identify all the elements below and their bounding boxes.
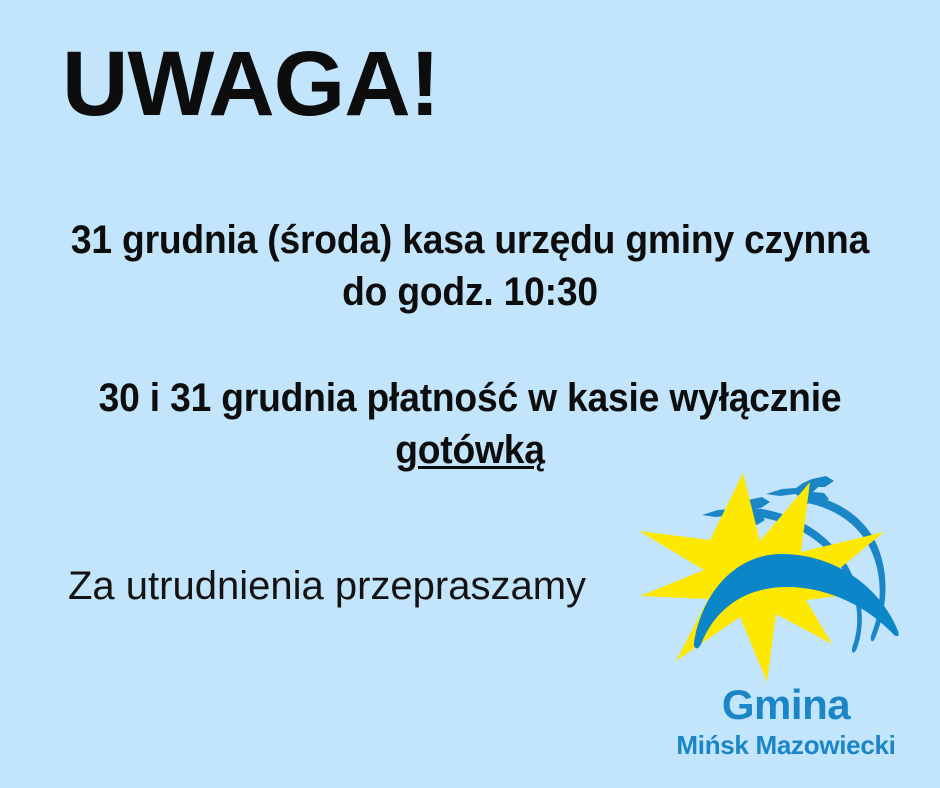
logo-name-main: Gmina — [636, 684, 936, 726]
notice-hours-line-2: do godz. 10:30 — [33, 266, 907, 318]
logo-name-sub: Mińsk Mazowiecki — [636, 732, 936, 758]
gmina-logo: Gmina Mińsk Mazowiecki — [636, 468, 936, 778]
notice-hours: 31 grudnia (środa) kasa urzędu gminy czy… — [0, 214, 940, 318]
gmina-logo-mark — [636, 468, 936, 693]
announcement-poster: UWAGA! 31 grudnia (środa) kasa urzędu gm… — [0, 0, 940, 788]
notice-cash: 30 i 31 grudnia płatność w kasie wyłączn… — [0, 372, 940, 476]
notice-cash-line-1: 30 i 31 grudnia płatność w kasie wyłączn… — [33, 372, 907, 424]
gmina-logo-wordmark: Gmina Mińsk Mazowiecki — [636, 684, 936, 758]
notice-hours-line-1: 31 grudnia (środa) kasa urzędu gminy czy… — [33, 214, 907, 266]
page-title: UWAGA! — [62, 38, 439, 130]
notice-apology: Za utrudnienia przepraszamy — [68, 562, 586, 610]
